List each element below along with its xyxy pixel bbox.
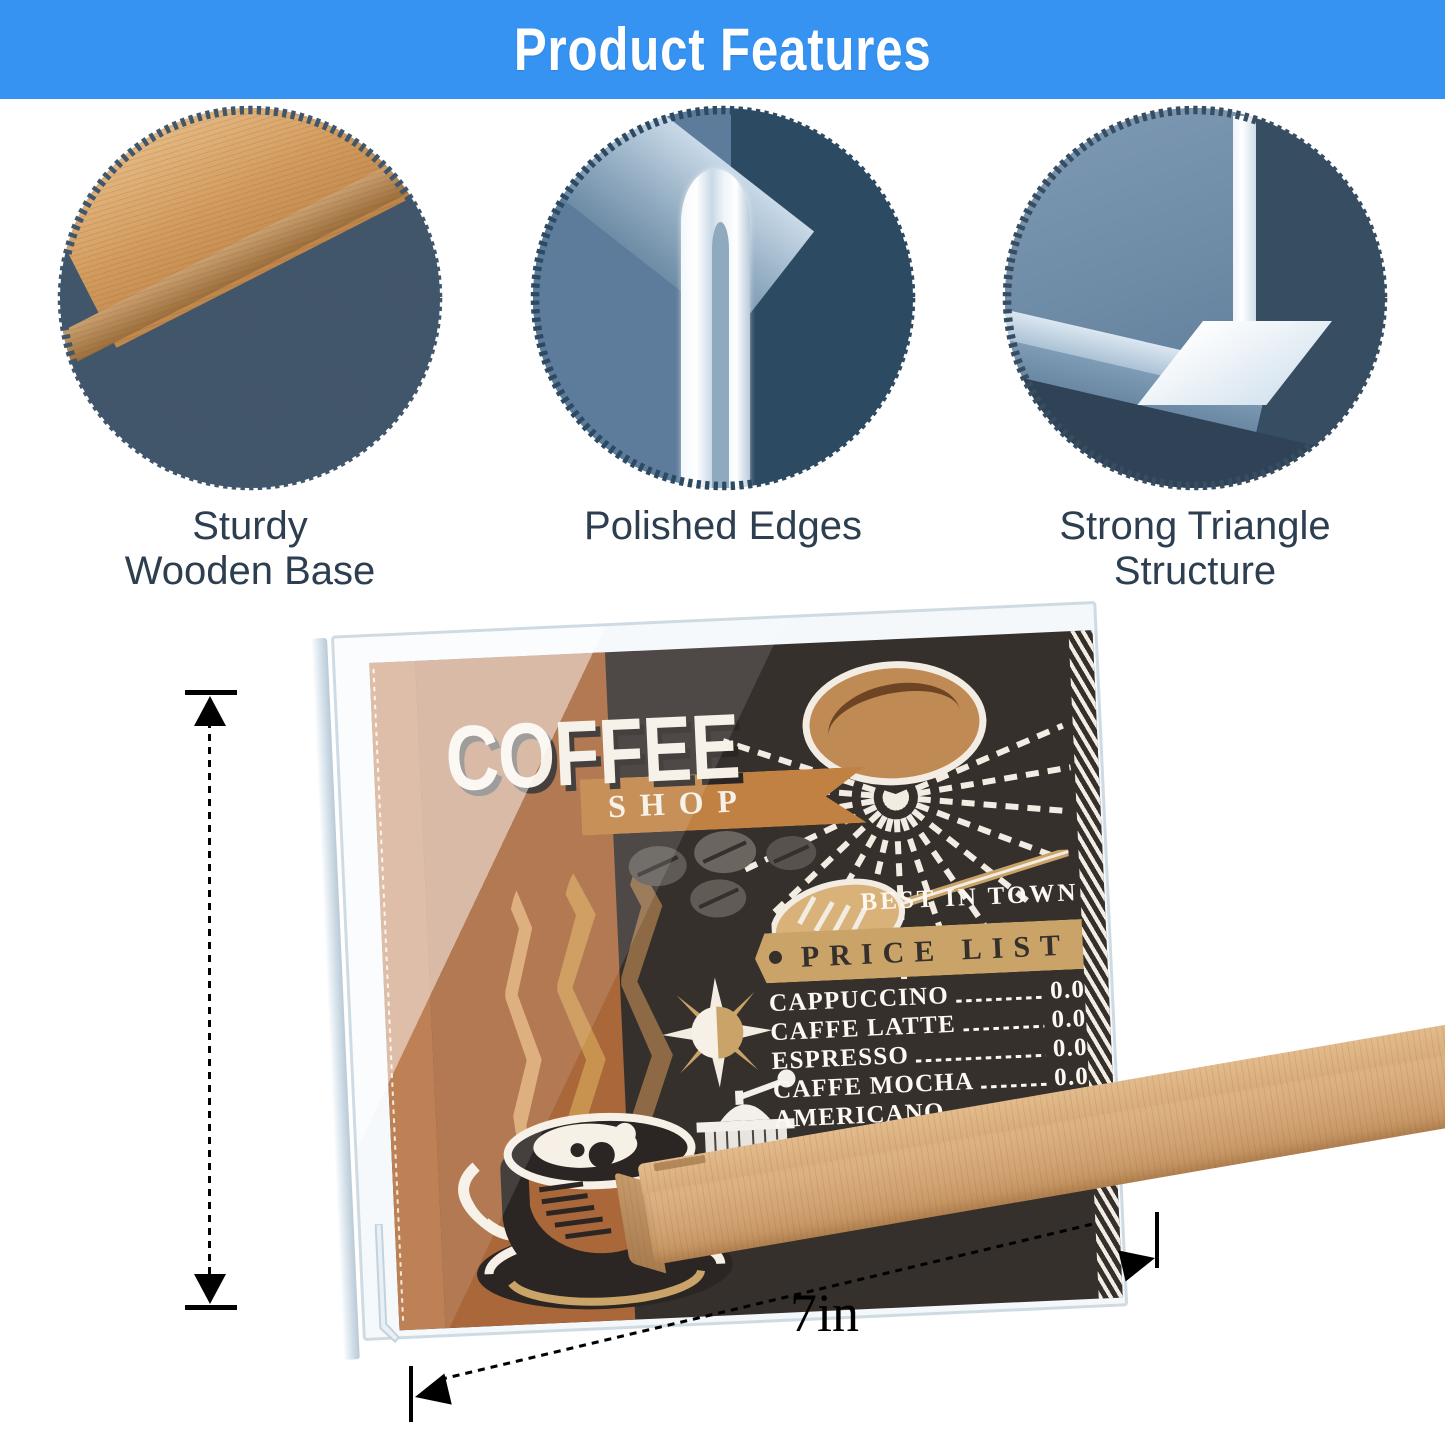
height-dimension-line — [180, 690, 240, 1310]
triangle-structure-photo-circle — [1005, 108, 1385, 488]
feature-caption-line1: Strong Triangle — [985, 504, 1405, 549]
leader-dots — [981, 1083, 1047, 1089]
feature-caption: Sturdy Wooden Base — [40, 504, 460, 594]
dimension-cap-bottom — [185, 1305, 237, 1310]
small-coffee-bean-icon — [628, 845, 688, 888]
feature-sturdy-wooden-base: Sturdy Wooden Base — [40, 108, 460, 594]
page-title: Product Features — [514, 15, 932, 84]
product-features-header: Product Features — [0, 0, 1445, 99]
dimension-cap-left — [409, 1366, 413, 1422]
feature-polished-edges: Polished Edges — [513, 108, 933, 549]
dimension-cap-top — [185, 690, 237, 695]
wooden-base-photo-circle — [60, 108, 440, 488]
dimension-dotted-line — [208, 708, 211, 1292]
width-dimension-label: 7in — [790, 1282, 859, 1344]
dimension-cap-right — [1155, 1212, 1159, 1268]
leader-dots — [916, 1054, 1046, 1063]
leader-dots — [963, 1025, 1045, 1032]
dimension-arrow-right — [1118, 1242, 1158, 1281]
polished-edge-photo-circle — [533, 108, 913, 488]
feature-strong-triangle-structure: Strong Triangle Structure — [985, 108, 1405, 594]
dimension-dotted-line — [440, 1222, 1094, 1381]
dimension-arrow-down — [194, 1274, 226, 1304]
width-dimension-line: 7in — [395, 1230, 1165, 1430]
fresh-brewed-coffee-vertical-text: FRESH BREWED COFFEE — [385, 630, 461, 661]
product-photo-area: 5in FRESH BREWED COFFEE — [0, 600, 1445, 1445]
feature-caption: Strong Triangle Structure — [985, 504, 1405, 594]
feature-caption-line1: Polished Edges — [513, 504, 933, 549]
feature-caption: Polished Edges — [513, 504, 933, 549]
leader-dots — [956, 996, 1043, 1003]
feature-caption-line2: Structure — [985, 549, 1405, 594]
feature-caption-line2: Wooden Base — [40, 549, 460, 594]
feature-caption-line1: Sturdy — [40, 504, 460, 549]
poster-subtitle: SHOP — [607, 782, 752, 825]
feature-highlights-row: Sturdy Wooden Base Polished Edges — [0, 108, 1445, 618]
